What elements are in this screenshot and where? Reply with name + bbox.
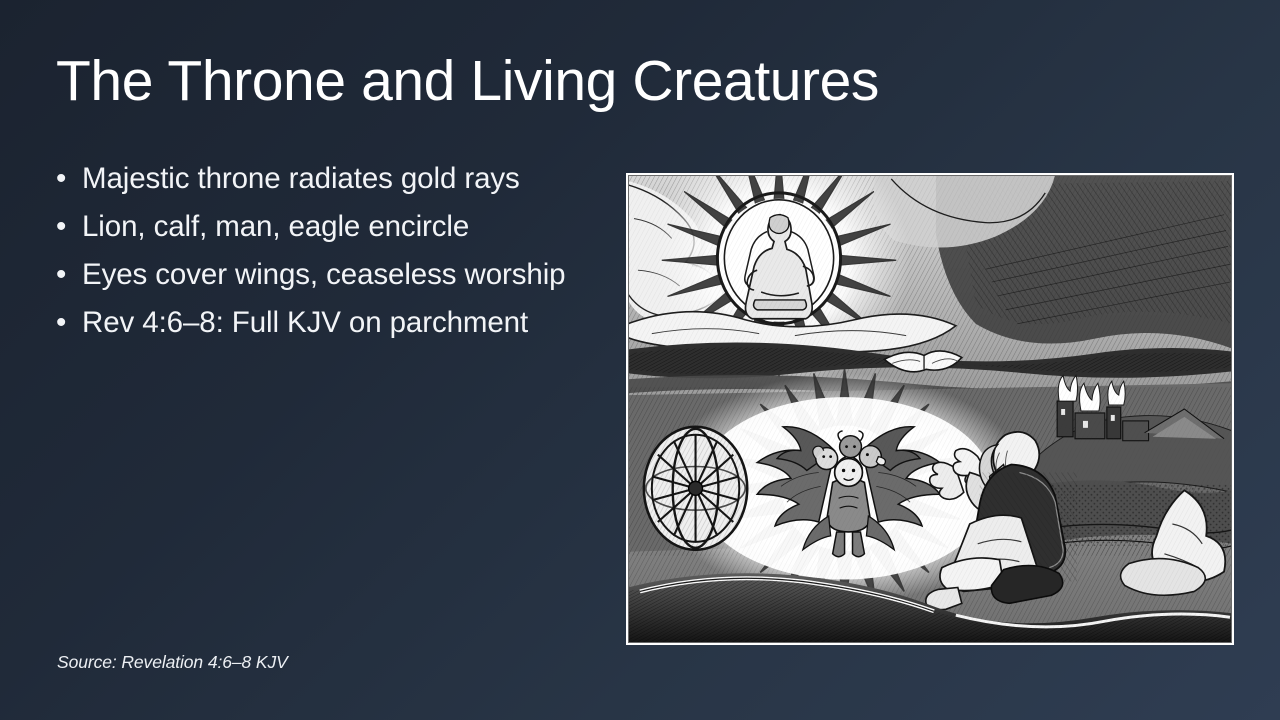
list-item-label: Majestic throne radiates gold rays [82,162,520,195]
source-caption: Source: Revelation 4:6–8 KJV [57,652,288,673]
list-item: •Majestic throne radiates gold rays [56,155,601,203]
list-item-label: Lion, calf, man, eagle encircle [82,210,469,243]
illustration-frame [626,173,1234,645]
list-item: •Lion, calf, man, eagle encircle [56,203,601,251]
bullet-marker-icon: • [56,251,82,299]
page-title: The Throne and Living Creatures [56,50,1116,114]
bullet-marker-icon: • [56,203,82,251]
bullet-marker-icon: • [56,155,82,203]
engraving-illustration [628,175,1232,643]
list-item: •Rev 4:6–8: Full KJV on parchment [56,299,601,347]
slide-canvas: The Throne and Living Creatures •Majesti… [0,0,1280,720]
bullet-marker-icon: • [56,299,82,347]
bullet-list: •Majestic throne radiates gold rays •Lio… [56,155,601,347]
list-item: •Eyes cover wings, ceaseless worship [56,251,601,299]
list-item-label: Rev 4:6–8: Full KJV on parchment [82,306,528,339]
list-item-label: Eyes cover wings, ceaseless worship [82,258,565,291]
